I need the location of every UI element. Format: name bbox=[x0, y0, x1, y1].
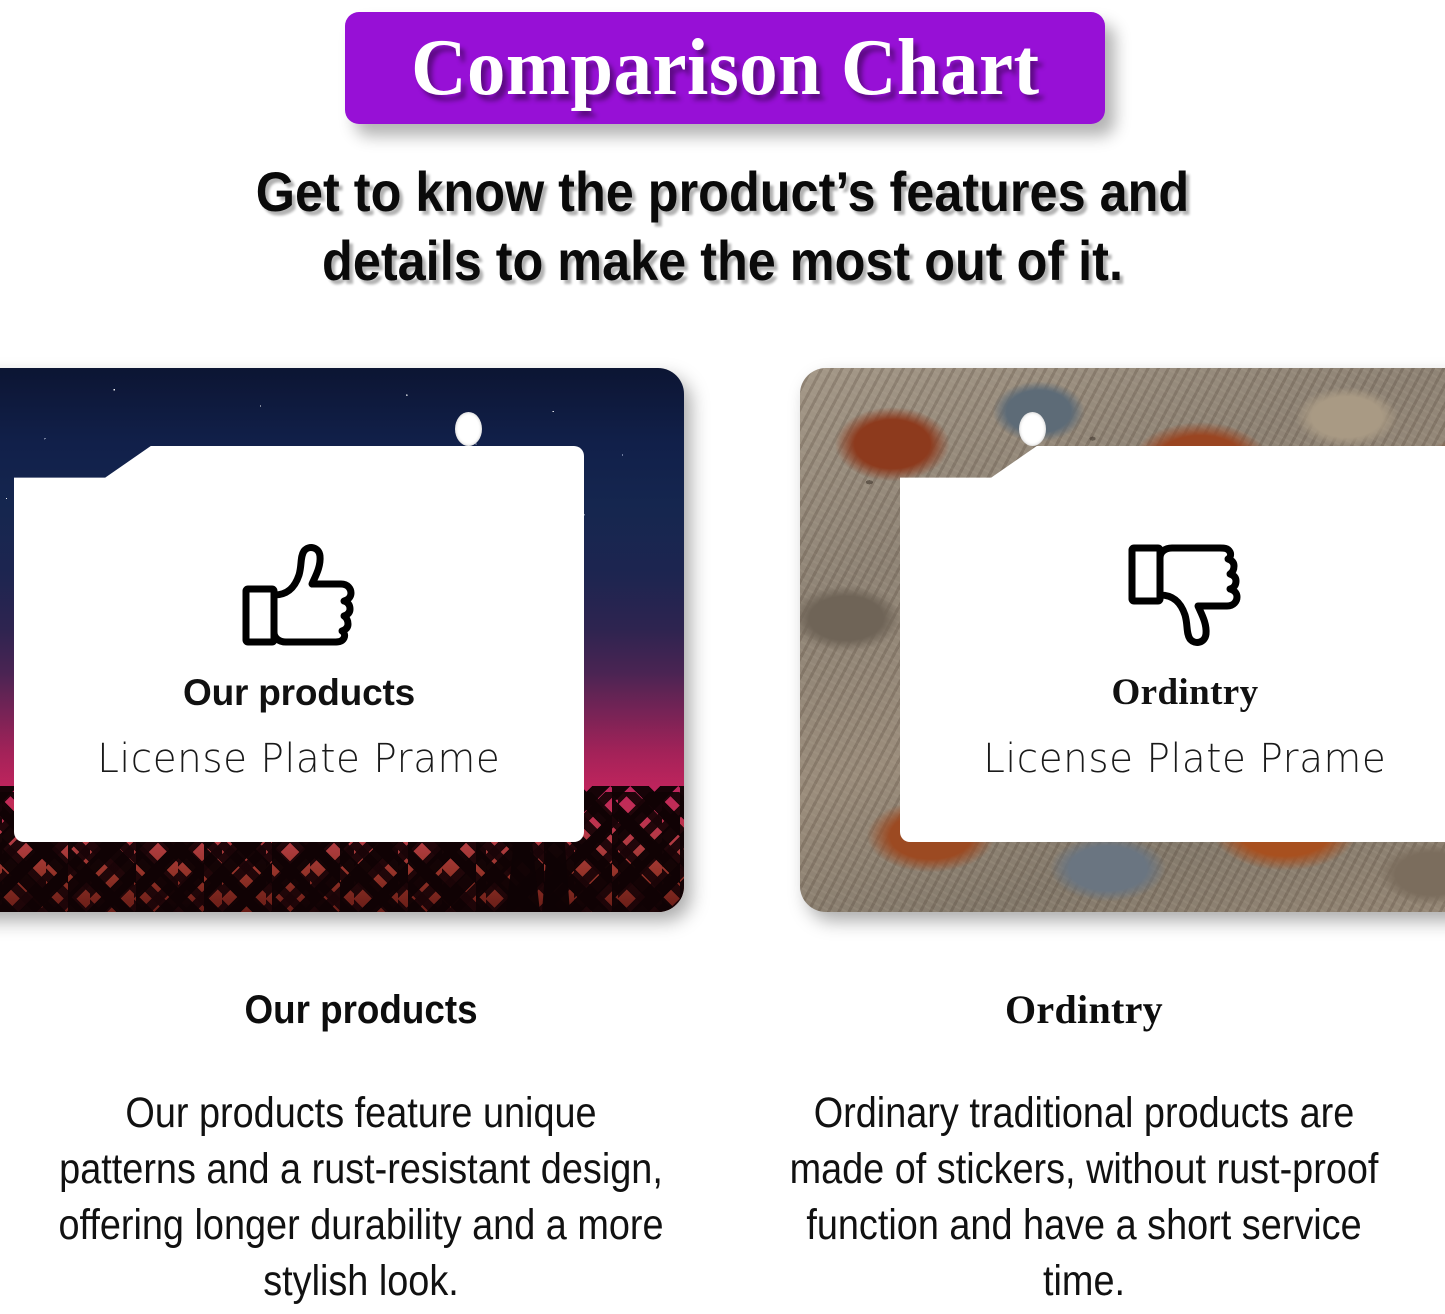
banner-background: Comparison Chart bbox=[345, 12, 1105, 124]
frames-row: Our products License Plate Prame Ordintr… bbox=[0, 368, 1445, 916]
title-banner: Comparison Chart bbox=[345, 12, 1105, 124]
captions-row: Our products Our products feature unique… bbox=[0, 990, 1445, 1314]
plate-window: Ordintry License Plate Prame bbox=[900, 446, 1445, 842]
subtitle: Get to know the product’s features and d… bbox=[72, 158, 1373, 296]
page-title: Comparison Chart bbox=[411, 28, 1040, 108]
frame-title-ours: Our products bbox=[183, 674, 415, 711]
caption-column-ours: Our products Our products feature unique… bbox=[0, 990, 722, 1310]
product-frame-ours: Our products License Plate Prame bbox=[0, 368, 684, 912]
mounting-hole-icon bbox=[455, 412, 482, 446]
frame-subtitle-ours: License Plate Prame bbox=[97, 739, 500, 779]
mounting-hole-icon bbox=[1019, 412, 1046, 446]
product-frame-ordinary: Ordintry License Plate Prame bbox=[800, 368, 1445, 912]
caption-body-ours: Our products feature unique patterns and… bbox=[43, 1086, 678, 1310]
caption-body-ordinary: Ordinary traditional products are made o… bbox=[766, 1086, 1401, 1310]
frame-subtitle-ordinary: License Plate Prame bbox=[983, 739, 1386, 779]
subtitle-line-2: details to make the most out of it. bbox=[72, 227, 1373, 296]
subtitle-line-1: Get to know the product’s features and bbox=[72, 158, 1373, 227]
thumbs-down-icon bbox=[1127, 543, 1243, 652]
plate-window: Our products License Plate Prame bbox=[14, 446, 584, 842]
caption-column-ordinary: Ordintry Ordinary traditional products a… bbox=[723, 990, 1445, 1310]
frame-title-ordinary: Ordintry bbox=[1111, 674, 1258, 711]
thumbs-up-icon bbox=[241, 543, 357, 652]
caption-heading-ordinary: Ordintry bbox=[723, 990, 1445, 1030]
caption-heading-ours: Our products bbox=[29, 990, 693, 1030]
